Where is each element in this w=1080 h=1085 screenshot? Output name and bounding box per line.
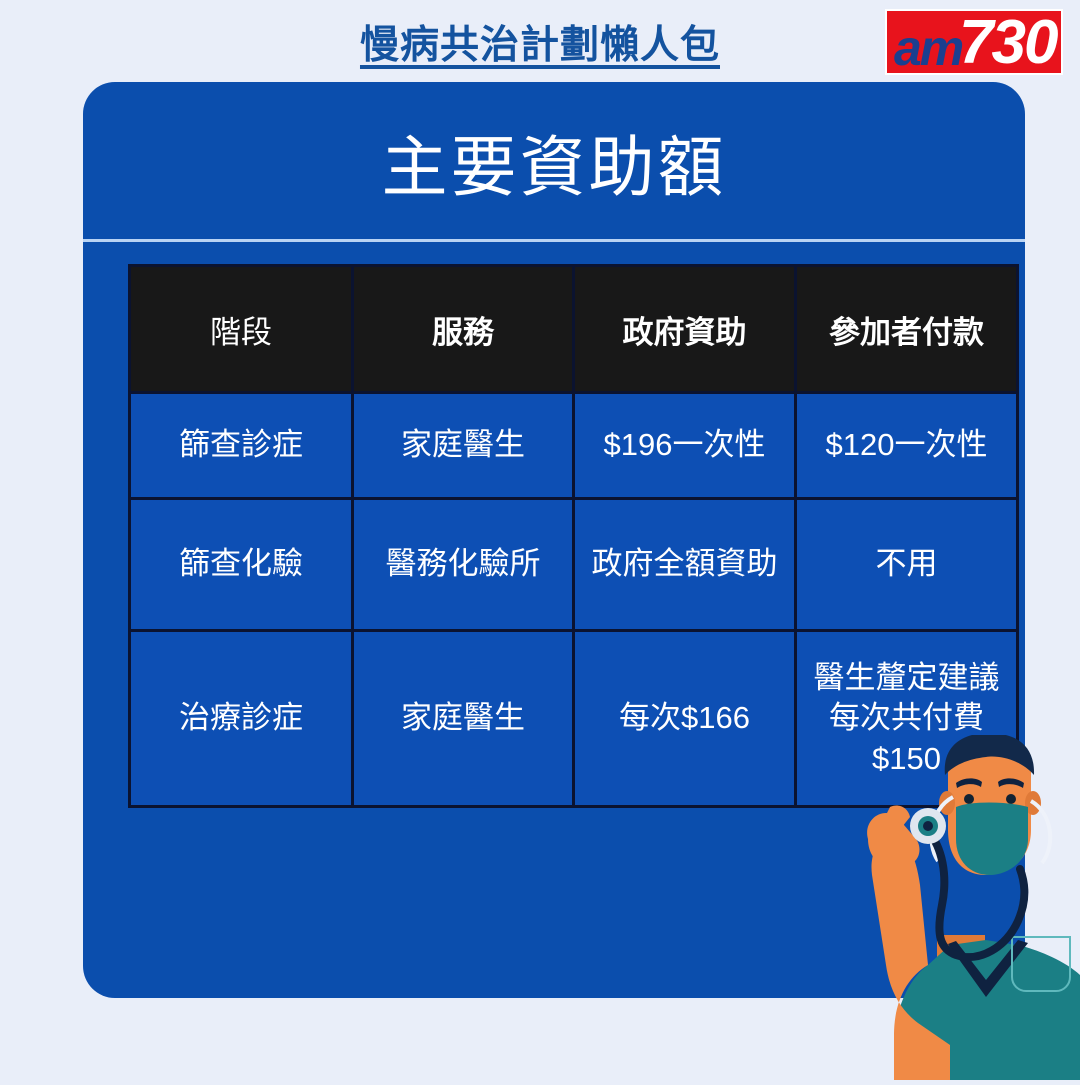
- logo-am-text: am: [894, 23, 962, 73]
- card-heading: 主要資助額: [83, 114, 1025, 210]
- cell-payment: 不用: [796, 499, 1018, 631]
- cell-subsidy: $196一次性: [574, 393, 796, 499]
- heading-divider: [83, 239, 1025, 242]
- cell-service: 家庭醫生: [353, 631, 574, 807]
- face-mask: [956, 803, 1028, 876]
- cell-payment: $120一次性: [796, 393, 1018, 499]
- logo-730-text: 730: [959, 12, 1056, 74]
- table-header-row: 階段 服務 政府資助 參加者付款: [130, 266, 1018, 393]
- column-header-service: 服務: [353, 266, 574, 393]
- left-eye: [964, 794, 974, 804]
- cell-service: 家庭醫生: [353, 393, 574, 499]
- stethoscope-center: [923, 821, 933, 831]
- table-row: 篩查診症 家庭醫生 $196一次性 $120一次性: [130, 393, 1018, 499]
- cell-stage: 篩查化驗: [130, 499, 353, 631]
- column-header-government-subsidy: 政府資助: [574, 266, 796, 393]
- column-header-participant-payment: 參加者付款: [796, 266, 1018, 393]
- cell-service: 醫務化驗所: [353, 499, 574, 631]
- cell-stage: 治療診症: [130, 631, 353, 807]
- right-eye: [1006, 794, 1016, 804]
- scrubs-shade: [1005, 946, 1080, 1080]
- am730-logo: am 730: [885, 9, 1063, 75]
- header-bar: 慢病共治計劃懶人包 am 730: [0, 0, 1080, 82]
- table-row: 篩查化驗 醫務化驗所 政府全額資助 不用: [130, 499, 1018, 631]
- doctor-illustration: [790, 735, 1080, 1080]
- cell-stage: 篩查診症: [130, 393, 353, 499]
- cell-subsidy: 每次$166: [574, 631, 796, 807]
- column-header-stage: 階段: [130, 266, 353, 393]
- cell-subsidy: 政府全額資助: [574, 499, 796, 631]
- subsidy-table: 階段 服務 政府資助 參加者付款 篩查診症 家庭醫生 $196一次性 $120一…: [128, 264, 1019, 808]
